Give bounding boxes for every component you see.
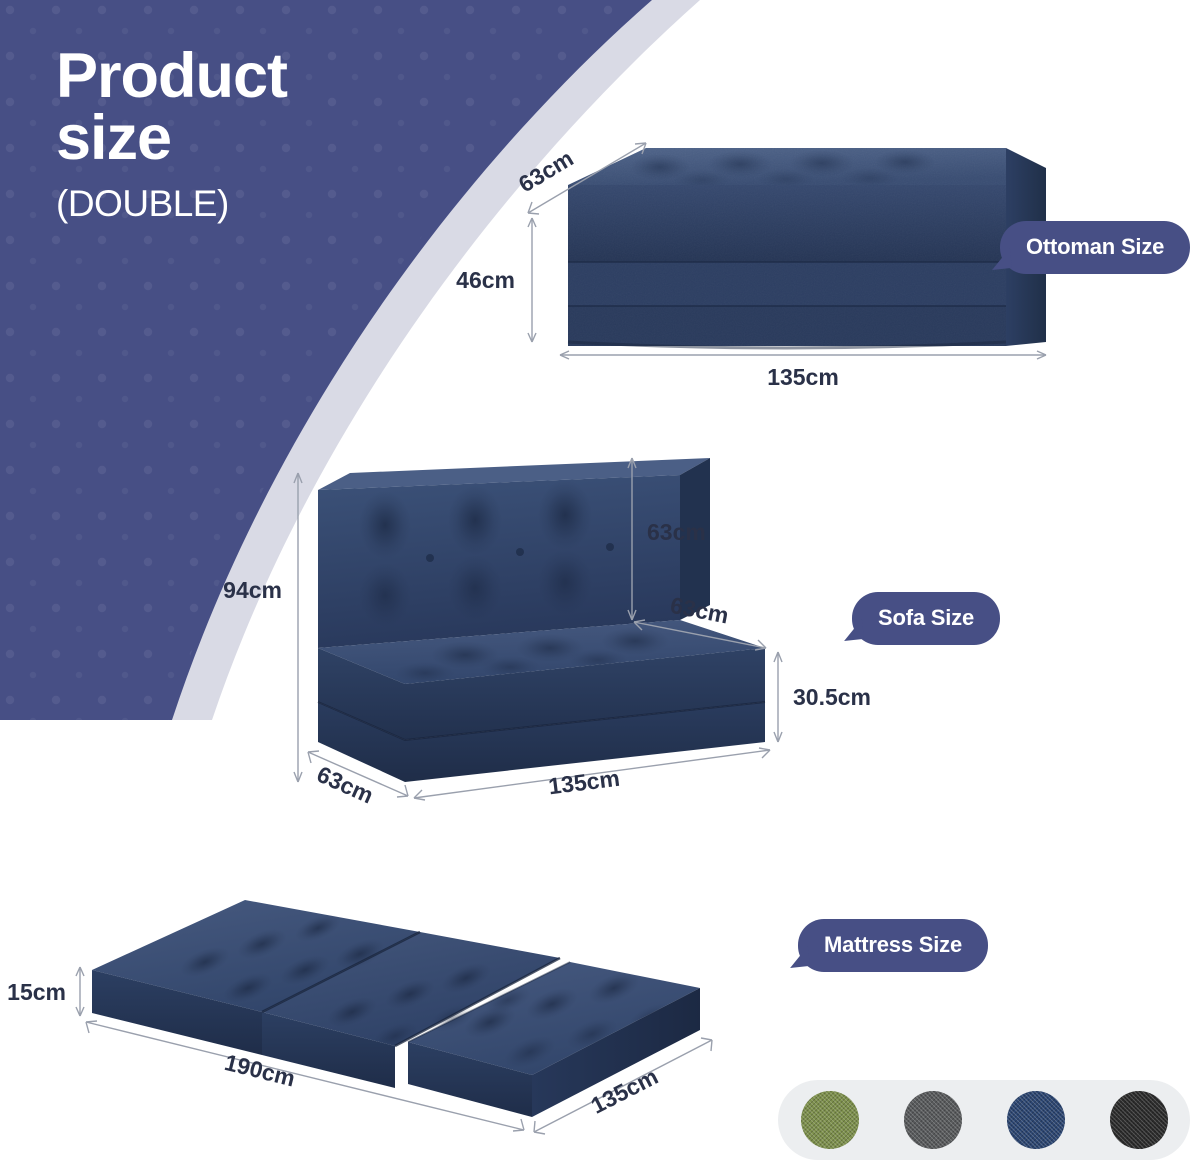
mattress-dim-height — [76, 967, 84, 1016]
swatch-black[interactable] — [1110, 1091, 1168, 1149]
badge-sofa-size[interactable]: Sofa Size — [852, 592, 1000, 645]
swatch-olive-green[interactable] — [801, 1091, 859, 1149]
badge-tail-icon — [842, 619, 864, 641]
page-subtitle: (DOUBLE) — [56, 183, 287, 225]
badge-ottoman-label: Ottoman Size — [1026, 234, 1164, 259]
ottoman-dim-width — [560, 351, 1046, 359]
ottoman-figure: 63cm 46cm 135cm — [450, 110, 1070, 400]
sofa-dim-seat-height — [774, 652, 782, 742]
header-text-block: Product size (DOUBLE) — [56, 46, 287, 225]
mattress-dim-height-label: 15cm — [7, 979, 66, 1005]
swatch-navy-blue[interactable] — [1007, 1091, 1065, 1149]
ottoman-dim-height — [528, 218, 536, 342]
sofa-figure: 94cm 63cm 63cm 30.5cm 63cm 135cm — [210, 430, 890, 820]
badge-sofa-label: Sofa Size — [878, 605, 974, 630]
badge-tail-icon — [788, 946, 810, 968]
ottoman-body — [568, 148, 1046, 348]
badge-ottoman-size[interactable]: Ottoman Size — [1000, 221, 1190, 274]
ottoman-dim-width-label: 135cm — [767, 364, 839, 390]
badge-tail-icon — [990, 248, 1012, 270]
page-title: Product size — [56, 46, 287, 169]
mattress-figure: 15cm 190cm 135cm — [0, 870, 720, 1160]
sofa-dim-seat-height-label: 30.5cm — [793, 684, 871, 710]
sofa-dim-backrest-height-label: 63cm — [647, 519, 706, 545]
sofa-dim-total-height-label: 94cm — [223, 577, 282, 603]
sofa-dim-width-label: 135cm — [547, 765, 621, 800]
swatch-grey[interactable] — [904, 1091, 962, 1149]
sofa-dim-total-height — [294, 473, 302, 782]
fabric-swatch-bar — [778, 1080, 1190, 1160]
ottoman-dim-height-label: 46cm — [456, 267, 515, 293]
badge-mattress-size[interactable]: Mattress Size — [798, 919, 988, 972]
badge-mattress-label: Mattress Size — [824, 932, 962, 957]
